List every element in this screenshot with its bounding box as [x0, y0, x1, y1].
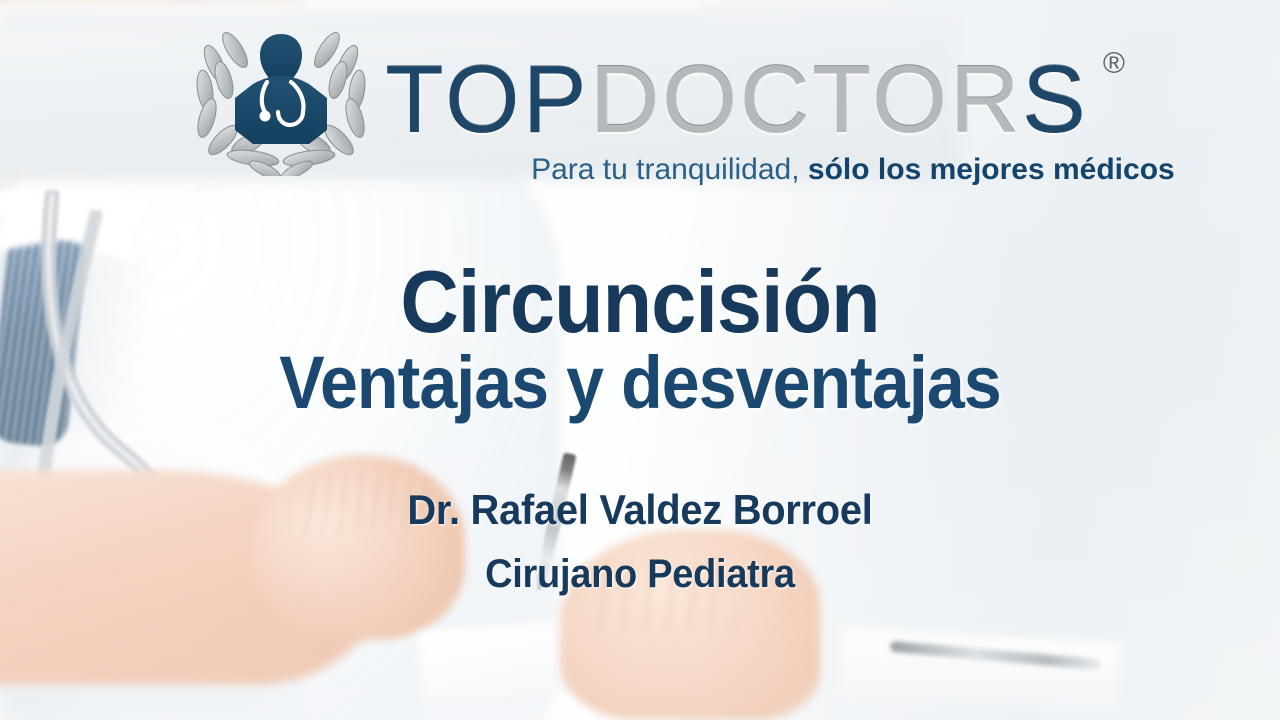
- page-title: Circuncisión: [51, 258, 1229, 346]
- title-block: Circuncisión Ventajas y desventajas: [0, 258, 1280, 422]
- title-card-content: TOPDOCTORS ® Para tu tranquilidad, sólo …: [0, 0, 1280, 720]
- wordmark-top: TOP: [385, 46, 590, 153]
- presenter-name: Dr. Rafael Valdez Borroel: [32, 486, 1248, 534]
- tagline-bold-part: sólo los mejores médicos: [808, 153, 1175, 186]
- brand-tagline: Para tu tranquilidad, sólo los mejores m…: [531, 153, 1175, 187]
- presenter-role: Cirujano Pediatra: [32, 552, 1248, 597]
- video-title-card: TOPDOCTORS ® Para tu tranquilidad, sólo …: [0, 0, 1280, 720]
- wordmark-doctor: DOCTOR: [590, 46, 1022, 153]
- tagline-light-part: Para tu tranquilidad,: [531, 153, 808, 186]
- wordmark-s: S: [1022, 46, 1089, 153]
- wordmark-text: TOPDOCTORS: [385, 53, 1089, 147]
- brand-logo: TOPDOCTORS ® Para tu tranquilidad, sólo …: [0, 24, 1280, 176]
- wordmark: TOPDOCTORS ® Para tu tranquilidad, sólo …: [385, 53, 1089, 147]
- laurel-wreath-doctor-emblem: [191, 24, 371, 176]
- page-subtitle: Ventajas y desventajas: [51, 344, 1229, 422]
- registered-trademark-icon: ®: [1103, 47, 1125, 81]
- presenter-block: Dr. Rafael Valdez Borroel Cirujano Pedia…: [0, 486, 1280, 597]
